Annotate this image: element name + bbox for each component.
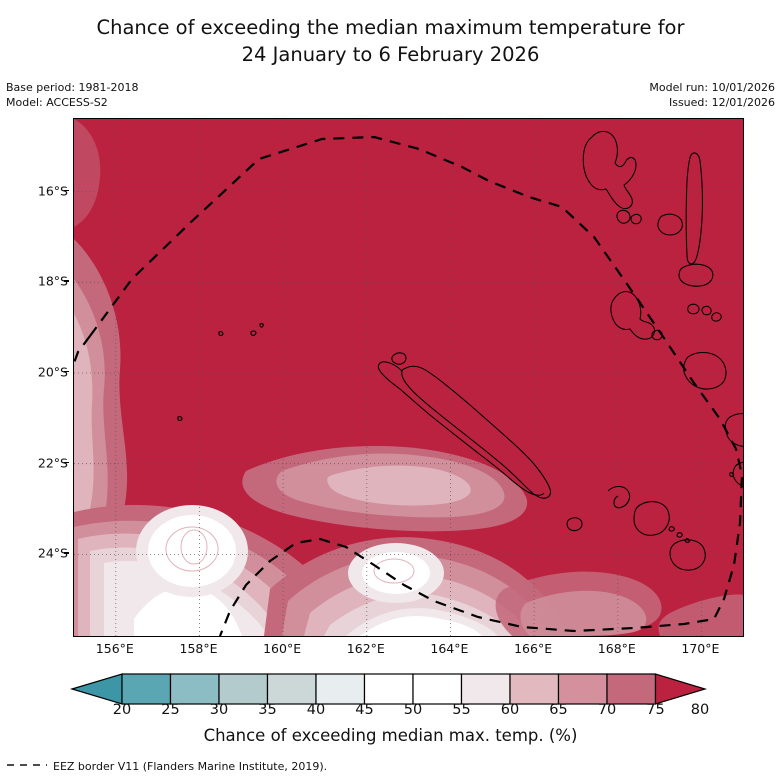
model-run-label: Model run: 10/01/2026: [649, 80, 775, 95]
x-tick-156E: 156°E: [96, 641, 134, 656]
model-label: Model: ACCESS-S2: [6, 95, 138, 110]
y-tick-20S: 20°S: [8, 365, 68, 380]
colorbar-band-55-60: [462, 674, 511, 704]
y-tick-16S: 16°S: [8, 183, 68, 198]
colorbar-tick-70: 70: [598, 702, 616, 718]
footnote-text: EEZ border V11 (Flanders Marine Institut…: [53, 760, 327, 773]
colorbar-tick-40: 40: [307, 702, 325, 718]
colorbar-tick-60: 60: [501, 702, 519, 718]
figure-root: Chance of exceeding the median maximum t…: [0, 0, 781, 781]
colorbar-band-65-70: [559, 674, 608, 704]
metadata-right: Model run: 10/01/2026 Issued: 12/01/2026: [649, 80, 775, 110]
map-plot-area: © Commonwealth of Australia 2026, Bureau…: [73, 118, 744, 637]
base-period-label: Base period: 1981-2018: [6, 80, 138, 95]
title-line-1: Chance of exceeding the median maximum t…: [96, 16, 684, 39]
page-title: Chance of exceeding the median maximum t…: [0, 14, 781, 68]
y-tick-22S: 22°S: [8, 455, 68, 470]
colorbar-band-60-65: [510, 674, 559, 704]
x-tick-168E: 168°E: [598, 641, 636, 656]
y-tickmark: [64, 371, 69, 372]
colorbar-band-40-45: [316, 674, 365, 704]
x-tick-158E: 158°E: [179, 641, 217, 656]
colorbar[interactable]: [0, 672, 781, 706]
contour-layer: [74, 119, 743, 636]
eez-dash-legend-icon: [6, 760, 48, 773]
colorbar-title: Chance of exceeding median max. temp. (%…: [0, 726, 781, 745]
y-tickmark: [64, 462, 69, 463]
colorbar-tick-75: 75: [646, 702, 664, 718]
colorbar-tick-25: 25: [161, 702, 179, 718]
map-canvas: [74, 119, 743, 636]
y-tickmark: [64, 552, 69, 553]
x-tick-170E: 170°E: [681, 641, 719, 656]
y-tick-24S: 24°S: [8, 546, 68, 561]
footnote: EEZ border V11 (Flanders Marine Institut…: [6, 760, 327, 773]
title-line-2: 24 January to 6 February 2026: [242, 43, 540, 66]
colorbar-tick-30: 30: [210, 702, 228, 718]
colorbar-band-45-50: [365, 674, 414, 704]
colorbar-svg[interactable]: [0, 672, 781, 706]
x-axis: 156°E 158°E 160°E 162°E 164°E 166°E 168°…: [73, 641, 744, 663]
x-tick-160E: 160°E: [263, 641, 301, 656]
x-tick-164E: 164°E: [430, 641, 468, 656]
y-axis: 16°S 18°S 20°S 22°S 24°S: [0, 118, 68, 637]
metadata-left: Base period: 1981-2018 Model: ACCESS-S2: [6, 80, 138, 110]
y-tickmark: [64, 280, 69, 281]
colorbar-band-over-80: [656, 674, 706, 704]
colorbar-band-70-75: [607, 674, 656, 704]
x-tick-166E: 166°E: [514, 641, 552, 656]
colorbar-tick-45: 45: [355, 702, 373, 718]
colorbar-tick-55: 55: [452, 702, 470, 718]
colorbar-band-under-20: [72, 674, 122, 704]
colorbar-band-50-55: [413, 674, 462, 704]
colorbar-band-20-25: [122, 674, 171, 704]
colorbar-tick-80: 80: [691, 702, 709, 718]
colorbar-tick-35: 35: [258, 702, 276, 718]
colorbar-tick-20: 20: [113, 702, 131, 718]
colorbar-band-25-30: [171, 674, 220, 704]
colorbar-tick-labels: 20 25 30 35 40 45 50 55 60 65 70 75 80: [0, 702, 781, 724]
issued-label: Issued: 12/01/2026: [649, 95, 775, 110]
colorbar-tick-65: 65: [549, 702, 567, 718]
colorbar-tick-50: 50: [404, 702, 422, 718]
y-tick-18S: 18°S: [8, 274, 68, 289]
colorbar-band-35-40: [268, 674, 317, 704]
colorbar-band-30-35: [219, 674, 268, 704]
x-tick-162E: 162°E: [347, 641, 385, 656]
y-tickmark: [64, 190, 69, 191]
